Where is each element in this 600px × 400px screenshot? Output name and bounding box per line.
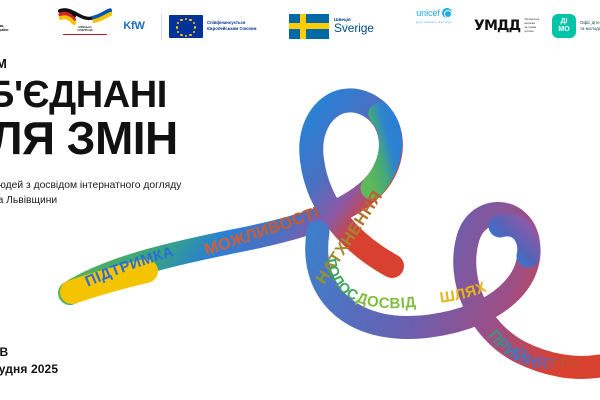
dimo-mark-icon: ДІ МО	[552, 14, 576, 38]
kfw-logo: KfW	[114, 8, 154, 44]
ribbon-top-loop-highlight	[372, 114, 391, 188]
german-ukraine-flag-wave-icon	[58, 8, 112, 25]
ribbon-left-cap	[72, 271, 146, 292]
eu-flag-icon	[169, 15, 203, 38]
page-title-line-2: ДЛЯ ЗМІН	[0, 117, 288, 160]
event-city: ЛЬВІВ	[0, 345, 58, 359]
event-date: 11 грудня 2025	[0, 362, 58, 376]
sweden-flag-icon	[289, 14, 329, 39]
unicef-logo: unicef для кожної дитини	[394, 8, 474, 44]
event-location-date: ЛЬВІВ 11 грудня 2025	[0, 345, 58, 376]
event-subtitle-line-1: Форум людей з досвідом інтернатного догл…	[0, 180, 181, 191]
ribbon-word-dosvid: ДОСВІД	[354, 289, 417, 312]
ministry-of-social-policy-logo: Міністерство соціальної політики, сім'ї …	[0, 8, 56, 44]
eu-logo-text: Співфінансується Європейським Союзом	[207, 20, 256, 32]
ribbon-word-holos: ГОЛОС	[322, 257, 361, 304]
partner-logo-strip: Міністерство соціальної політики, сім'ї …	[0, 0, 600, 52]
dimo-logo: ДІ МО Офіс дітей та молоді	[552, 8, 600, 44]
umdd-logo-text: Українська мережа за права дитини	[524, 18, 539, 34]
unicef-globe-icon	[442, 8, 452, 18]
dimo-mark-bottom: МО	[558, 26, 569, 34]
dimo-mark-top: ДІ	[561, 18, 568, 26]
european-union-logo: Співфінансується Європейським Союзом	[169, 8, 289, 44]
ribbon-word-mozhlyvosti: МОЖЛИВОСТІ	[202, 204, 322, 260]
event-kicker: ФОРУМ	[0, 56, 288, 71]
event-subtitle: Форум людей з досвідом інтернатного догл…	[0, 178, 258, 209]
german-cooperation-rule	[63, 34, 107, 35]
ribbon-lower-path	[317, 213, 600, 367]
german-cooperation-caption: НІМЕЦЬКА СПІВПРАЦЯ	[77, 26, 92, 33]
unicef-wordmark: unicef	[416, 8, 439, 18]
umdd-logo: УМДД Українська мережа за права дитини	[474, 8, 552, 44]
event-subtitle-line-2: Волині та Львівщини	[0, 195, 57, 206]
ribbon-right-loop-highlight	[500, 225, 529, 256]
logo-divider	[161, 13, 162, 39]
ribbon-word-natkhnennia: НАТХНЕННЯ	[312, 188, 386, 288]
german-cooperation-logo: НІМЕЦЬКА СПІВПРАЦЯ	[56, 8, 114, 44]
ribbon-word-pryiniattia: ПРИЙНЯТТЯ	[484, 327, 580, 373]
headline-block: ФОРУМ ОБ'ЄДНАНІ ДЛЯ ЗМІН Форум людей з д…	[0, 56, 288, 209]
dimo-logo-text: Офіс дітей та молоді	[580, 20, 600, 32]
umdd-wordmark: УМДД	[474, 19, 520, 33]
unicef-tagline: для кожної дитини	[416, 20, 452, 24]
sweden-label-main: Sverige	[334, 21, 374, 35]
ministry-logo-text: Міністерство соціальної політики, сім'ї …	[0, 19, 9, 32]
page-title-line-1: ОБ'ЄДНАНІ	[0, 78, 288, 114]
sweden-sverige-logo: Швеція Sverige	[289, 8, 394, 44]
ribbon-word-pidtrymka: ПІДТРИМКА	[83, 243, 176, 290]
ribbon-word-labels: ПІДТРИМКА МОЖЛИВОСТІ НАТХНЕННЯ ГОЛОС ДОС…	[83, 188, 581, 374]
ribbon-word-shliakh: ШЛЯХ	[439, 279, 489, 307]
